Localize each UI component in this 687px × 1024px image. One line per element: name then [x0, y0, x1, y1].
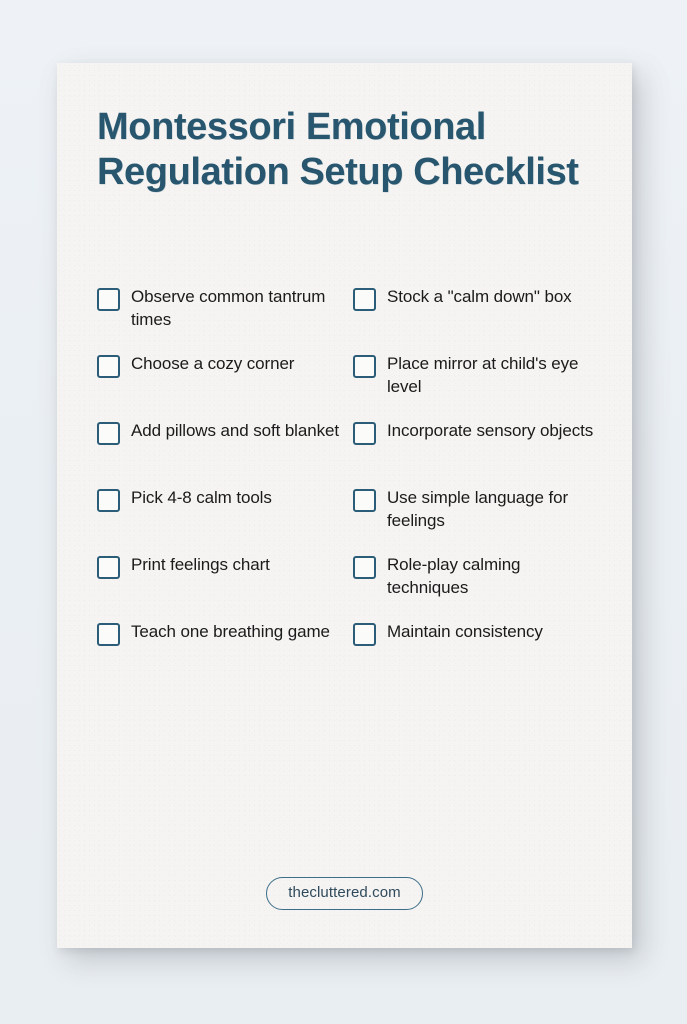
- list-item-label: Maintain consistency: [387, 620, 543, 643]
- checkbox-icon[interactable]: [97, 422, 120, 445]
- page-title: Montessori Emotional Regulation Setup Ch…: [97, 105, 597, 195]
- list-item[interactable]: Add pillows and soft blanket: [97, 419, 341, 486]
- website-url-badge[interactable]: thecluttered.com: [266, 877, 423, 910]
- list-item-label: Stock a "calm down" box: [387, 285, 572, 308]
- checkbox-icon[interactable]: [97, 556, 120, 579]
- list-item[interactable]: Incorporate sensory objects: [353, 419, 597, 486]
- list-item[interactable]: Observe common tantrum times: [97, 285, 341, 352]
- checkbox-icon[interactable]: [97, 288, 120, 311]
- checkbox-icon[interactable]: [353, 489, 376, 512]
- checkbox-icon[interactable]: [353, 556, 376, 579]
- list-item[interactable]: Stock a "calm down" box: [353, 285, 597, 352]
- list-item-label: Add pillows and soft blanket: [131, 419, 339, 442]
- list-item-label: Place mirror at child's eye level: [387, 352, 595, 398]
- list-item-label: Incorporate sensory objects: [387, 419, 593, 442]
- checklist-column-right: Stock a "calm down" box Place mirror at …: [353, 285, 597, 687]
- list-item[interactable]: Maintain consistency: [353, 620, 597, 687]
- checkbox-icon[interactable]: [353, 355, 376, 378]
- checkbox-icon[interactable]: [353, 623, 376, 646]
- list-item[interactable]: Role-play calming techniques: [353, 553, 597, 620]
- checklist-column-left: Observe common tantrum times Choose a co…: [97, 285, 341, 687]
- checklist-card: Montessori Emotional Regulation Setup Ch…: [57, 63, 632, 948]
- list-item-label: Use simple language for feelings: [387, 486, 595, 532]
- list-item-label: Teach one breathing game: [131, 620, 330, 643]
- checkbox-icon[interactable]: [353, 288, 376, 311]
- list-item-label: Observe common tantrum times: [131, 285, 341, 331]
- list-item[interactable]: Print feelings chart: [97, 553, 341, 620]
- checklist-columns: Observe common tantrum times Choose a co…: [97, 285, 597, 687]
- checkbox-icon[interactable]: [97, 489, 120, 512]
- footer: thecluttered.com: [57, 877, 632, 910]
- list-item-label: Choose a cozy corner: [131, 352, 294, 375]
- list-item-label: Pick 4-8 calm tools: [131, 486, 272, 509]
- list-item-label: Print feelings chart: [131, 553, 270, 576]
- checkbox-icon[interactable]: [97, 355, 120, 378]
- list-item-label: Role-play calming techniques: [387, 553, 595, 599]
- list-item[interactable]: Place mirror at child's eye level: [353, 352, 597, 419]
- list-item[interactable]: Choose a cozy corner: [97, 352, 341, 419]
- checkbox-icon[interactable]: [97, 623, 120, 646]
- list-item[interactable]: Teach one breathing game: [97, 620, 341, 687]
- list-item[interactable]: Use simple language for feelings: [353, 486, 597, 553]
- checkbox-icon[interactable]: [353, 422, 376, 445]
- list-item[interactable]: Pick 4-8 calm tools: [97, 486, 341, 553]
